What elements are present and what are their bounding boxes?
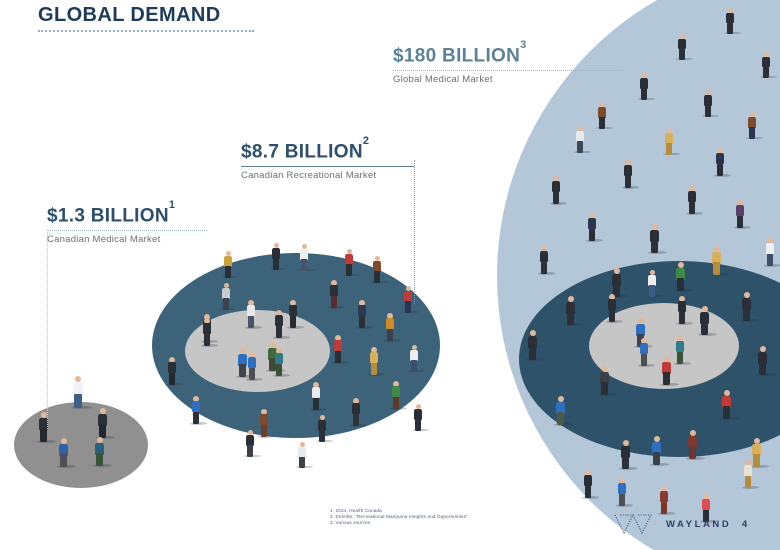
page-title: GLOBAL DEMAND — [38, 4, 254, 26]
person-legs — [701, 322, 708, 335]
callout-recreational-subtitle: Canadian Recreational Market — [241, 170, 414, 181]
callout-medical-subtitle: Canadian Medical Market — [47, 234, 207, 245]
person-legs — [577, 141, 583, 153]
person-figure — [688, 430, 697, 459]
person-figure — [298, 442, 306, 468]
wayland-logo-text: WAYLAND 4 — [666, 519, 750, 530]
person-figure — [552, 176, 560, 204]
person-torso — [334, 340, 342, 351]
callout-medical-footnote-marker: 1 — [169, 199, 175, 211]
person-torso — [588, 218, 596, 229]
callout-global-medical: $180 BILLION3 Global Medical Market — [393, 45, 620, 85]
person-legs — [371, 363, 377, 375]
person-legs — [290, 316, 296, 328]
person-figure — [640, 73, 648, 100]
person-legs — [651, 240, 658, 253]
person-figure — [373, 256, 381, 283]
person-legs — [387, 329, 393, 341]
person-torso — [370, 352, 378, 363]
person-legs — [601, 382, 608, 395]
person-torso — [386, 318, 394, 329]
person-figure — [748, 112, 756, 139]
person-legs — [249, 368, 255, 380]
person-legs — [717, 164, 723, 176]
person-figure — [678, 34, 686, 60]
person-figure — [386, 313, 394, 341]
person-torso — [726, 13, 734, 23]
person-figure — [334, 335, 342, 363]
person-figure — [312, 382, 320, 410]
person-legs — [641, 88, 647, 100]
person-figure — [688, 186, 696, 214]
person-legs — [713, 262, 720, 275]
person-figure — [650, 224, 659, 253]
leader-line-medical — [47, 232, 48, 429]
person-legs — [619, 494, 625, 506]
person-legs — [529, 347, 536, 360]
person-torso — [762, 57, 770, 67]
person-legs — [74, 394, 82, 408]
callout-recreational-footnote-marker: 2 — [363, 135, 369, 147]
person-legs — [247, 445, 253, 457]
person-figure — [300, 244, 308, 271]
person-figure — [665, 128, 673, 155]
person-torso — [392, 386, 400, 397]
person-figure — [358, 300, 366, 328]
callout-global-amount-text: $180 BILLION — [393, 45, 520, 66]
person-torso — [192, 401, 200, 412]
person-figure — [410, 345, 418, 372]
footer-logo-block: WAYLAND 4 — [613, 511, 750, 537]
person-torso — [203, 323, 211, 334]
person-legs — [96, 453, 103, 466]
person-torso — [676, 341, 684, 352]
person-torso — [260, 414, 268, 425]
person-figure — [289, 300, 297, 328]
person-torso — [330, 285, 338, 296]
person-legs — [553, 192, 559, 204]
person-figure — [726, 8, 734, 34]
person-legs — [723, 406, 730, 419]
person-figure — [600, 366, 609, 395]
person-figure — [722, 390, 731, 419]
person-legs — [743, 308, 750, 321]
person-figure — [370, 347, 378, 375]
person-torso — [688, 191, 696, 202]
person-legs — [679, 312, 685, 324]
person-legs — [261, 425, 267, 437]
person-figure — [222, 283, 230, 310]
callout-global-footnote-marker: 3 — [520, 39, 526, 51]
person-legs — [40, 429, 47, 442]
person-torso — [744, 465, 752, 476]
logo-wordmark: WAYLAND — [666, 519, 731, 530]
person-legs — [335, 351, 341, 363]
person-figure — [540, 246, 548, 274]
person-torso — [248, 357, 256, 368]
person-figure — [608, 294, 616, 322]
person-torso — [618, 483, 626, 494]
person-figure — [576, 126, 584, 153]
person-figure — [758, 346, 767, 375]
person-legs — [625, 176, 631, 188]
person-figure — [73, 376, 83, 408]
person-legs — [411, 360, 417, 372]
person-legs — [666, 143, 672, 155]
person-torso — [608, 299, 616, 310]
person-legs — [239, 364, 246, 377]
person-figure — [392, 381, 400, 409]
person-figure — [766, 238, 774, 266]
callout-medical-rule — [47, 230, 207, 231]
person-legs — [346, 264, 352, 276]
person-legs — [353, 414, 359, 426]
person-torso — [640, 343, 648, 354]
person-legs — [749, 127, 755, 139]
person-torso — [702, 499, 710, 510]
person-figure — [652, 436, 661, 465]
person-legs — [763, 67, 769, 78]
person-figure — [95, 437, 104, 466]
person-figure — [203, 318, 211, 346]
person-legs — [689, 202, 695, 214]
person-torso — [358, 305, 366, 316]
footnote-item: 3. Various sources — [330, 520, 468, 526]
person-torso — [352, 403, 360, 414]
person-torso — [275, 353, 283, 364]
callout-medical-amount-text: $1.3 BILLION — [47, 205, 169, 226]
callout-recreational-amount: $8.7 BILLION2 — [241, 141, 414, 163]
person-legs — [557, 412, 564, 425]
person-torso — [247, 305, 255, 316]
person-figure — [330, 280, 338, 308]
person-torso — [584, 475, 592, 486]
person-torso — [552, 181, 560, 192]
person-figure — [59, 438, 68, 467]
person-figure — [588, 213, 596, 241]
person-legs — [679, 49, 685, 60]
person-figure — [648, 270, 656, 297]
person-legs — [223, 298, 229, 310]
person-legs — [585, 486, 591, 498]
footnote-list: 1. 2024, Health Canada 2. Deloitte, "Rec… — [330, 508, 468, 526]
person-torso — [168, 362, 176, 373]
leader-line-recreational — [414, 160, 415, 304]
person-figure — [168, 357, 176, 385]
person-figure — [621, 440, 630, 469]
person-figure — [345, 249, 353, 276]
person-figure — [238, 348, 247, 377]
person-figure — [98, 408, 107, 438]
person-figure — [224, 251, 232, 278]
person-torso — [660, 491, 668, 502]
person-legs — [753, 454, 760, 467]
person-legs — [677, 278, 684, 291]
person-legs — [767, 254, 773, 266]
person-legs — [653, 452, 660, 465]
person-legs — [663, 372, 670, 385]
person-legs — [689, 446, 696, 459]
person-figure — [676, 262, 685, 291]
person-figure — [246, 430, 254, 457]
title-block: GLOBAL DEMAND — [38, 4, 254, 32]
callout-global-rule — [393, 70, 620, 71]
person-figure — [318, 415, 326, 442]
person-figure — [618, 478, 626, 506]
person-legs — [374, 271, 380, 283]
person-figure — [742, 292, 751, 321]
person-torso — [678, 39, 686, 49]
person-legs — [225, 266, 231, 278]
person-legs — [169, 373, 175, 385]
person-legs — [276, 326, 282, 338]
person-figure — [736, 200, 744, 228]
person-legs — [299, 457, 305, 468]
person-figure — [584, 470, 592, 498]
person-figure — [612, 268, 621, 297]
person-legs — [622, 456, 629, 469]
person-legs — [204, 334, 210, 346]
person-figure — [662, 356, 671, 385]
person-legs — [727, 23, 733, 34]
person-legs — [589, 229, 595, 241]
person-legs — [609, 310, 615, 322]
person-legs — [745, 476, 751, 488]
person-figure — [352, 398, 360, 426]
person-torso — [540, 251, 548, 262]
person-torso — [275, 315, 283, 326]
person-figure — [414, 404, 422, 431]
person-figure — [247, 300, 255, 328]
person-figure — [640, 338, 648, 366]
callout-canadian-medical: $1.3 BILLION1 Canadian Medical Market — [47, 205, 207, 245]
person-legs — [641, 354, 647, 366]
person-figure — [566, 296, 575, 325]
person-legs — [677, 352, 683, 364]
person-figure — [404, 286, 412, 313]
person-figure — [248, 352, 256, 380]
person-torso — [312, 387, 320, 398]
person-figure — [712, 246, 721, 275]
person-figure — [660, 486, 668, 514]
person-legs — [313, 398, 319, 410]
person-figure — [678, 296, 686, 324]
callout-recreational-amount-text: $8.7 BILLION — [241, 141, 363, 162]
person-legs — [567, 312, 574, 325]
person-legs — [273, 258, 279, 270]
callout-canadian-recreational: $8.7 BILLION2 Canadian Recreational Mark… — [241, 141, 414, 181]
callout-recreational-rule — [241, 166, 414, 167]
callout-global-amount: $180 BILLION3 — [393, 45, 620, 67]
wayland-logo-icon — [613, 511, 657, 537]
person-figure — [556, 396, 565, 425]
person-legs — [393, 397, 399, 409]
person-figure — [704, 90, 712, 117]
person-torso — [624, 165, 632, 176]
person-torso — [678, 301, 686, 312]
person-figure — [752, 438, 761, 467]
person-figure — [676, 336, 684, 364]
person-figure — [624, 160, 632, 188]
person-legs — [276, 364, 282, 376]
person-torso — [289, 305, 297, 316]
person-figure — [528, 330, 537, 360]
person-figure — [260, 409, 268, 437]
person-figure — [192, 396, 200, 424]
person-torso — [298, 447, 306, 457]
page-number: 4 — [742, 519, 750, 530]
person-figure — [272, 243, 280, 270]
person-legs — [319, 430, 325, 442]
person-legs — [705, 105, 711, 117]
person-legs — [405, 301, 411, 313]
callout-global-subtitle: Global Medical Market — [393, 74, 620, 85]
person-legs — [759, 362, 766, 375]
person-legs — [737, 216, 743, 228]
person-figure — [275, 310, 283, 338]
person-legs — [415, 419, 421, 431]
person-legs — [359, 316, 365, 328]
person-figure — [762, 52, 770, 78]
slide-canvas: GLOBAL DEMAND $180 BILLION3 Global Medic… — [0, 0, 780, 550]
person-legs — [193, 412, 199, 424]
person-torso — [716, 153, 724, 164]
person-legs — [301, 259, 307, 271]
person-torso — [766, 243, 774, 254]
person-torso — [736, 205, 744, 216]
person-legs — [599, 117, 605, 129]
person-figure — [275, 348, 283, 376]
person-figure — [744, 460, 752, 488]
callout-medical-amount: $1.3 BILLION1 — [47, 205, 207, 227]
person-legs — [541, 262, 547, 274]
person-legs — [248, 316, 254, 328]
person-legs — [649, 285, 655, 297]
person-legs — [331, 296, 337, 308]
title-underline — [38, 30, 254, 32]
person-figure — [598, 102, 606, 129]
person-figure — [716, 148, 724, 176]
person-legs — [60, 454, 67, 467]
medical-market-ellipse — [14, 402, 148, 488]
person-figure — [700, 306, 709, 335]
